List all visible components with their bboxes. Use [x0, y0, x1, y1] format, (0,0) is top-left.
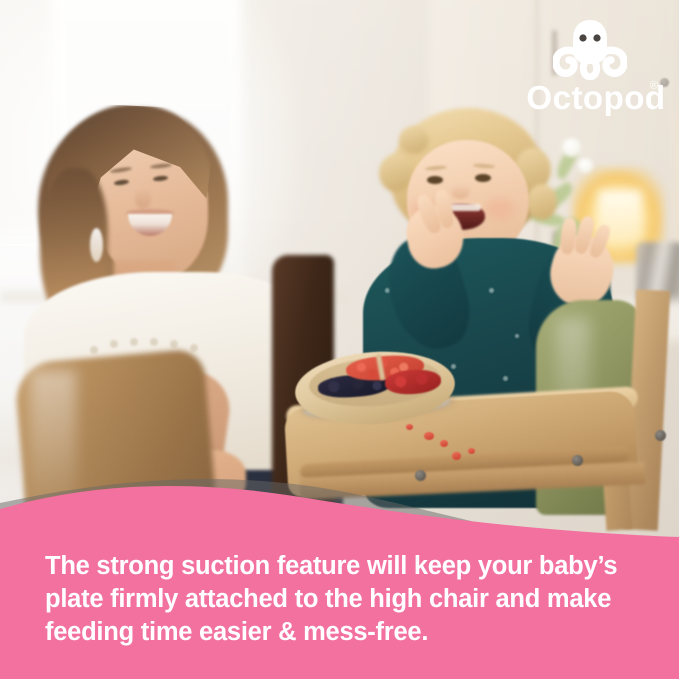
food-crumb	[406, 424, 413, 430]
promo-caption: The strong suction feature will keep you…	[45, 550, 645, 649]
brand-wordmark: Octopod	[521, 80, 671, 116]
food-crumb	[452, 452, 461, 460]
food-crumb	[424, 432, 434, 440]
brand-logo[interactable]: Octopod ®	[521, 18, 671, 116]
frame-screw	[655, 430, 666, 441]
registered-trademark-symbol: ®	[650, 81, 658, 92]
mother-earring	[90, 228, 103, 262]
product-lifestyle-banner: The strong suction feature will keep you…	[0, 0, 679, 679]
octopus-logo-icon	[553, 18, 627, 80]
food-crumb	[468, 448, 475, 454]
tray-screw-right	[572, 455, 583, 466]
mother-nose	[135, 188, 151, 208]
food-crumb	[440, 440, 448, 447]
